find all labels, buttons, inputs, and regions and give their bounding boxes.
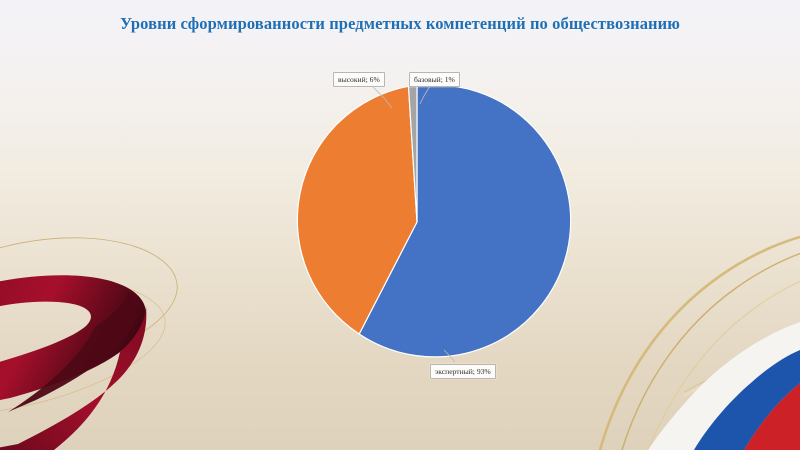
data-label-high[interactable]: высокий; 6% [333, 72, 385, 87]
presentation-slide: Уровни сформированности предметных компе… [0, 0, 800, 450]
pie-chart [255, 60, 585, 390]
russian-flag-ribbon [648, 322, 800, 450]
data-label-expert[interactable]: экспертный; 93% [430, 364, 496, 379]
page-title: Уровни сформированности предметных компе… [0, 14, 800, 34]
pie-chart-svg [255, 60, 585, 390]
pie-slices [297, 85, 570, 357]
data-label-base[interactable]: базовый; 1% [409, 72, 460, 87]
gold-swoosh-right [600, 232, 800, 450]
crimson-ribbon [0, 275, 146, 450]
gold-swoosh-left [0, 238, 177, 415]
